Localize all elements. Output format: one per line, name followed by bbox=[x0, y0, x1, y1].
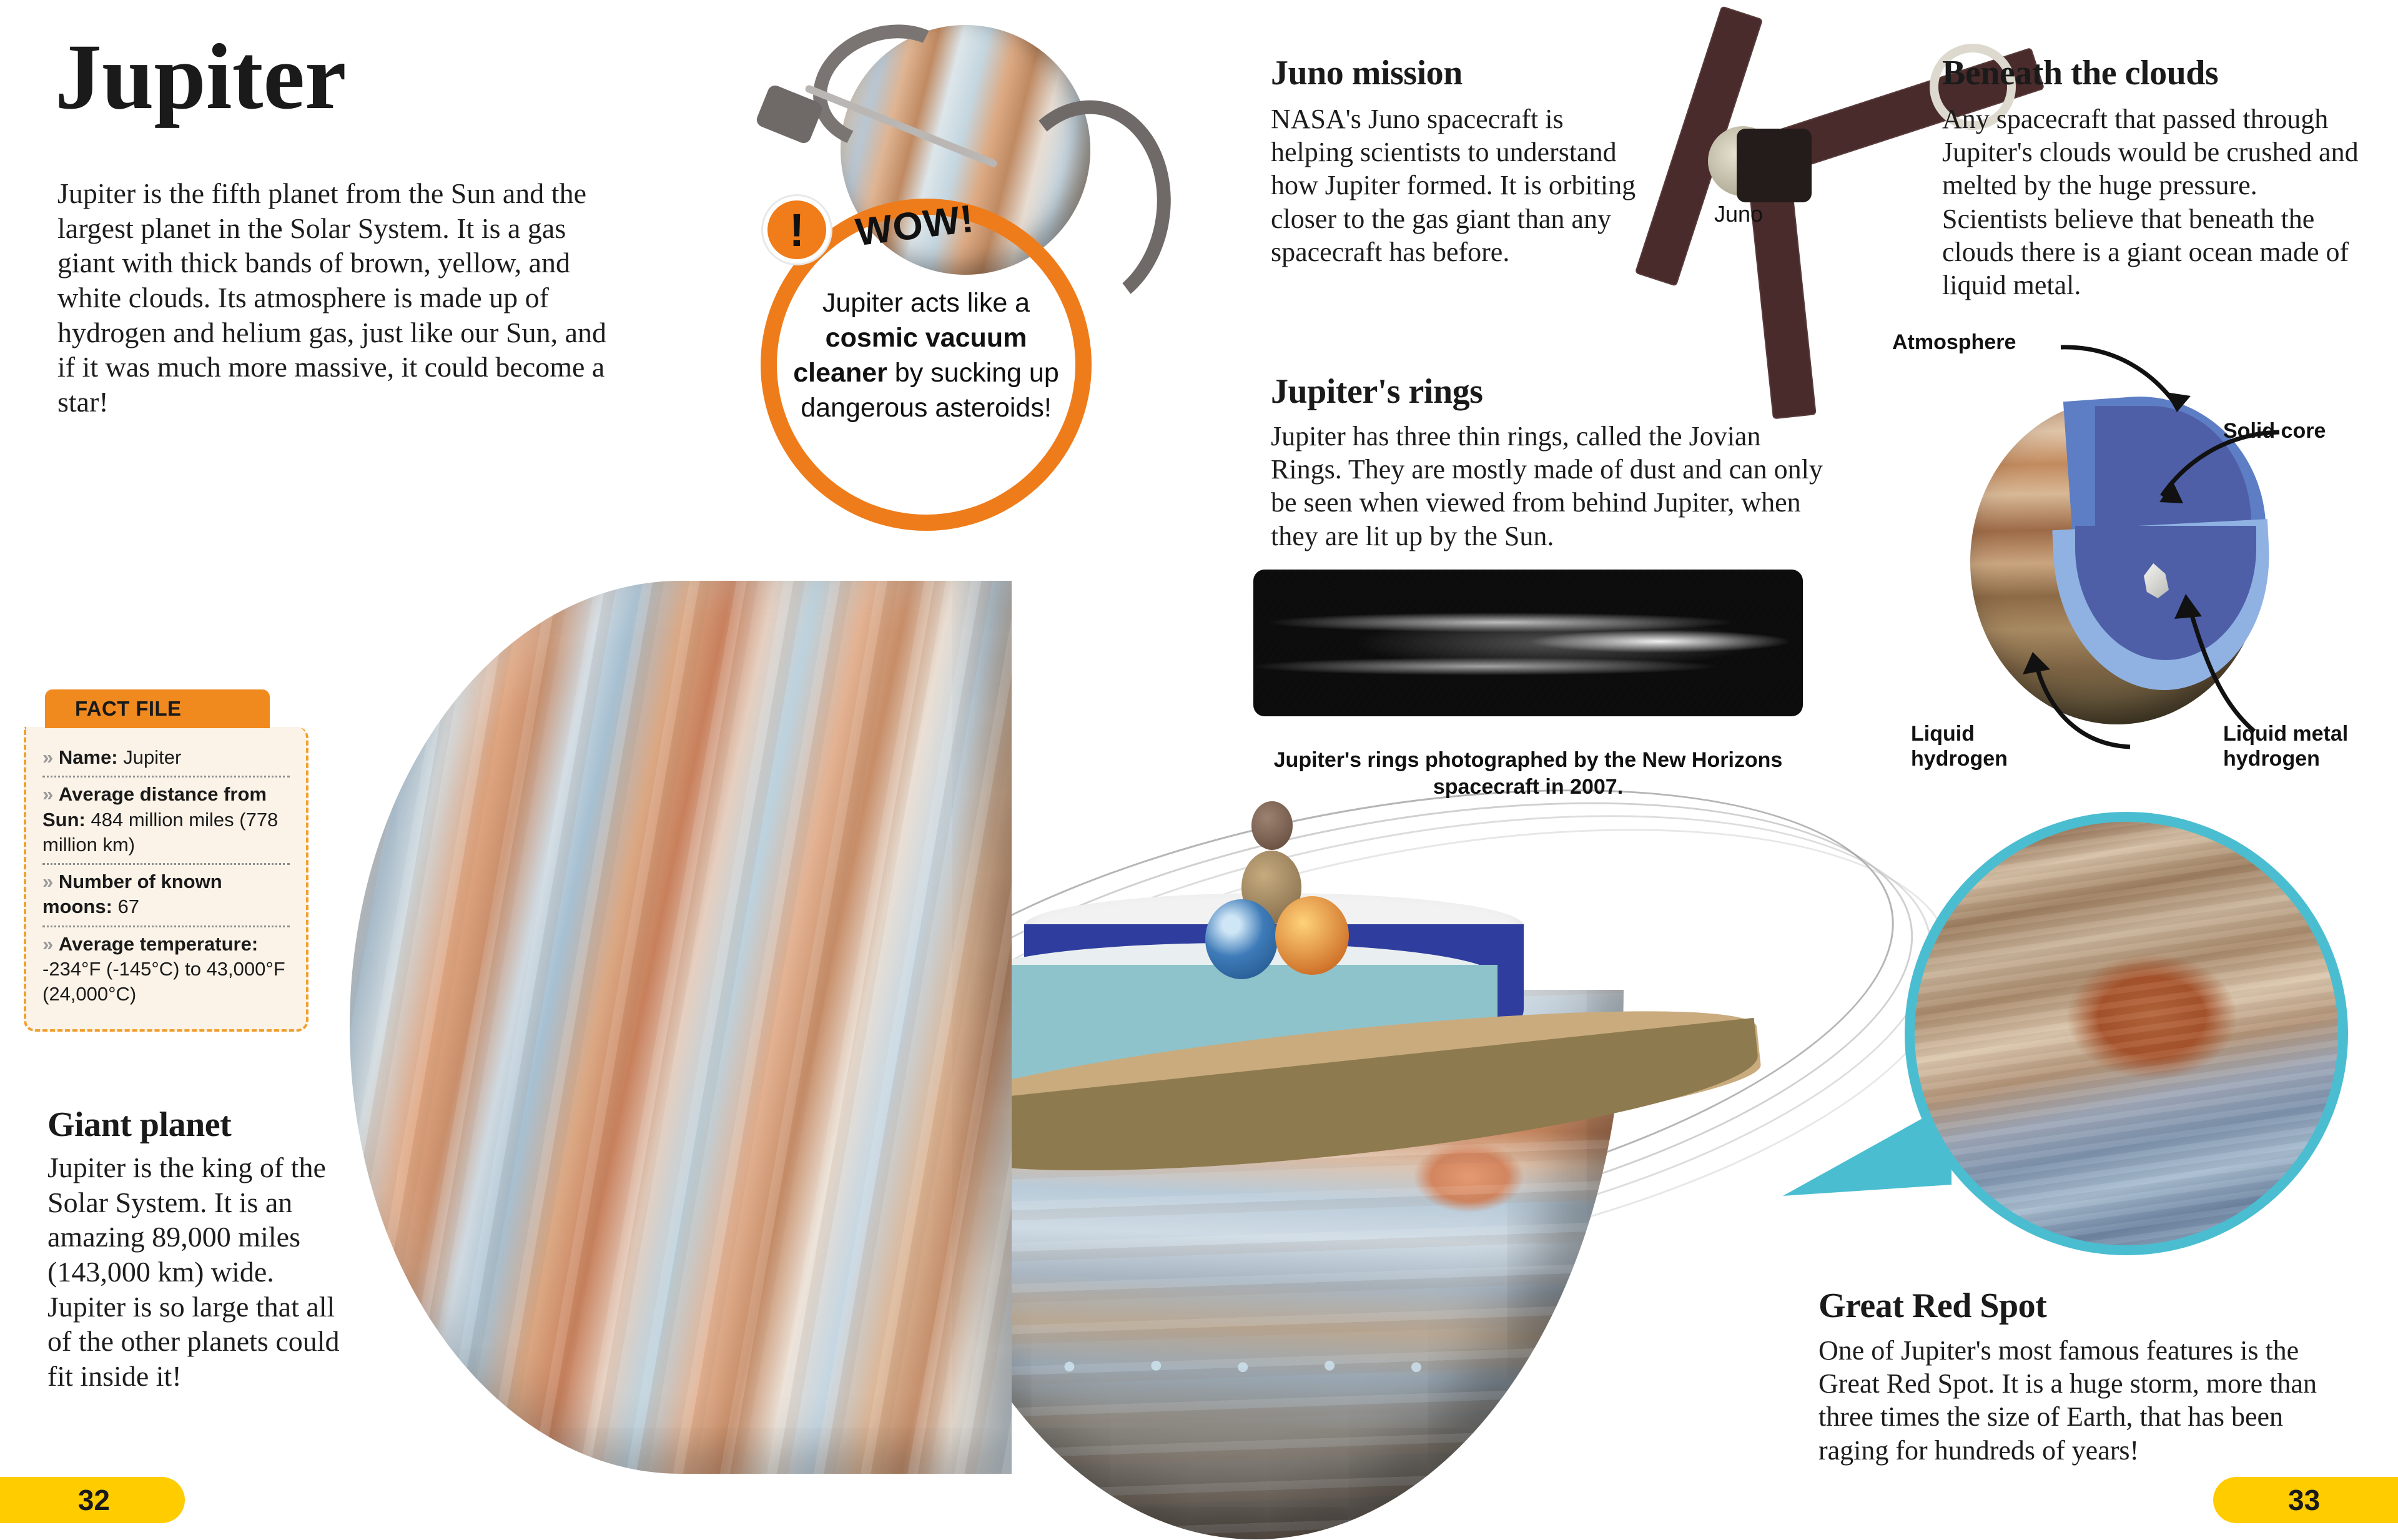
exclamation-icon: ! bbox=[763, 196, 831, 264]
chevron-icon: » bbox=[42, 783, 53, 805]
rings-body: Jupiter has three thin rings, called the… bbox=[1271, 420, 1833, 553]
fact-value: Jupiter bbox=[123, 746, 181, 768]
juno-spacecraft-art bbox=[1589, 6, 1989, 356]
fact-row: » Average temperature: -234°F (-145°C) t… bbox=[42, 925, 290, 1013]
planet-earth-icon bbox=[1205, 899, 1278, 979]
fact-file-tab: FACT FILE bbox=[45, 689, 270, 728]
wow-text-part1: Jupiter acts like a bbox=[822, 288, 1030, 318]
chevron-icon: » bbox=[42, 746, 53, 768]
label-liquid-hydrogen: Liquid hydrogen bbox=[1911, 721, 2042, 771]
jupiter-rings-photo bbox=[1253, 570, 1803, 716]
giant-planet-heading: Giant planet bbox=[47, 1107, 231, 1143]
jupiter-main-hemisphere-art bbox=[350, 581, 1012, 1474]
great-red-spot-inset-photo bbox=[1905, 812, 2348, 1255]
fact-row: » Number of known moons: 67 bbox=[42, 863, 290, 925]
solid-core-leader-line bbox=[2129, 430, 2279, 523]
fact-label: Average temperature: bbox=[59, 933, 258, 955]
page-number-right: 33 bbox=[2213, 1477, 2398, 1523]
great-red-spot-body: One of Jupiter's most famous features is… bbox=[1818, 1334, 2331, 1467]
chevron-icon: » bbox=[42, 871, 53, 892]
fact-row: » Average distance from Sun: 484 million… bbox=[42, 776, 290, 863]
fact-file-body: » Name: Jupiter » Average distance from … bbox=[24, 727, 308, 1032]
rings-heading: Jupiter's rings bbox=[1271, 373, 1483, 410]
page-title: Jupiter bbox=[55, 30, 347, 124]
fact-label: Name: bbox=[59, 746, 118, 768]
fact-value: -234°F (-145°C) to 43,000°F (24,000°C) bbox=[42, 958, 285, 1005]
planet-venus-icon bbox=[1275, 896, 1349, 975]
rings-photo-caption: Jupiter's rings photographed by the New … bbox=[1272, 747, 1784, 801]
label-solid-core: Solid core bbox=[2223, 418, 2326, 443]
juno-craft-label: Juno bbox=[1714, 201, 1763, 227]
liquid-metal-hydrogen-leader-line bbox=[2111, 578, 2273, 734]
wow-badge: ! WOW! Jupiter acts like a cosmic vacuum… bbox=[761, 199, 1092, 531]
wow-text: Jupiter acts like a cosmic vacuum cleane… bbox=[782, 286, 1070, 426]
fact-row: » Name: Jupiter bbox=[42, 741, 290, 776]
planet-mercury-icon bbox=[1251, 801, 1293, 850]
great-red-spot-heading: Great Red Spot bbox=[1818, 1288, 2046, 1325]
chevron-icon: » bbox=[42, 933, 53, 955]
intro-paragraph: Jupiter is the fifth planet from the Sun… bbox=[57, 176, 613, 420]
beneath-body: Any spacecraft that passed through Jupit… bbox=[1942, 102, 2367, 302]
fact-value: 67 bbox=[118, 896, 139, 917]
juno-heading: Juno mission bbox=[1271, 55, 1463, 92]
giant-planet-body: Jupiter is the king of the Solar System.… bbox=[47, 1150, 341, 1394]
fact-file-panel: FACT FILE » Name: Jupiter » Average dist… bbox=[24, 689, 308, 1032]
atmosphere-leader-line bbox=[2061, 342, 2223, 430]
page-number-left: 32 bbox=[0, 1477, 185, 1523]
label-liquid-metal-hydrogen: Liquid metal hydrogen bbox=[2223, 721, 2379, 771]
label-atmosphere: Atmosphere bbox=[1892, 330, 2016, 355]
beneath-heading: Beneath the clouds bbox=[1942, 55, 2218, 92]
